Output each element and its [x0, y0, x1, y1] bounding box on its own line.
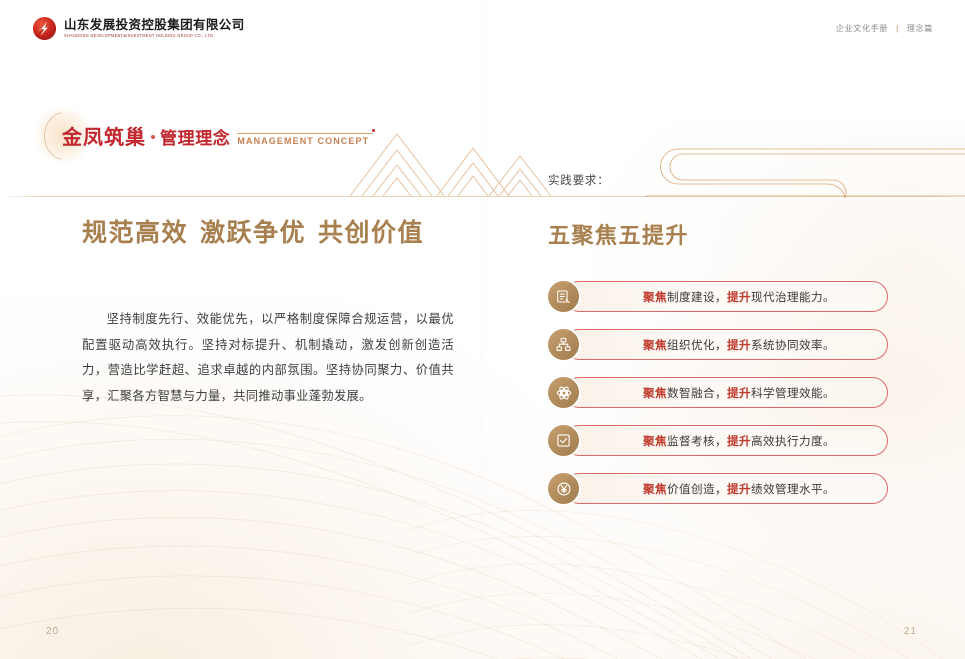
- concept-body-text: 坚持制度先行、效能优先，以严格制度保障合规运营，以最优配置驱动高效执行。坚持对标…: [82, 307, 454, 409]
- breadcrumb-manual: 企业文化手册: [836, 23, 888, 34]
- list-item-text: 聚焦价值创造，提升绩效管理水平。: [643, 481, 835, 497]
- list-item-text-2: 高效执行力度。: [751, 435, 835, 448]
- right-column: 实践要求： 五聚焦五提升 聚焦制度建设，提升现代治理能力。: [548, 172, 888, 504]
- list-item-text: 聚焦监督考核，提升高效执行力度。: [643, 433, 835, 449]
- list-item-highlight-2: 提升: [727, 387, 751, 400]
- list-item-highlight-1: 聚焦: [643, 339, 667, 352]
- list-item-text: 聚焦数智融合，提升科学管理效能。: [643, 385, 835, 401]
- five-focus-headline: 五聚焦五提升: [548, 218, 888, 250]
- headline-part-3: 共创价值: [318, 219, 424, 247]
- list-item-text-1: 监督考核，: [667, 435, 727, 448]
- badge-title-sub: 管理理念: [160, 124, 230, 149]
- list-item-bar: 聚焦价值创造，提升绩效管理水平。: [564, 473, 888, 504]
- list-item-highlight-2: 提升: [727, 339, 751, 352]
- list-item[interactable]: 聚焦组织优化，提升系统协同效率。: [548, 329, 888, 360]
- badge-text-group: 金凤筑巢 管理理念 MANAGEMENT CONCEPT: [40, 121, 373, 150]
- document-policy-icon: [548, 281, 579, 312]
- brand-name-en: SHANDONG DEVELOPMENT&INVESTMENT HOLDING …: [64, 34, 245, 39]
- breadcrumb-chapter: 理念篇: [907, 23, 933, 34]
- list-item-text-1: 价值创造，: [667, 483, 727, 496]
- org-structure-icon: [548, 329, 579, 360]
- headline-part-2: 激跃争优: [200, 219, 306, 247]
- header-breadcrumb: 企业文化手册 | 理念篇: [836, 23, 933, 34]
- list-item-highlight-1: 聚焦: [643, 387, 667, 400]
- list-item-bar: 聚焦监督考核，提升高效执行力度。: [564, 425, 888, 456]
- list-item-highlight-2: 提升: [727, 291, 751, 304]
- atom-data-icon: [548, 377, 579, 408]
- mountain-line-decoration: [345, 130, 560, 197]
- five-focus-list: 聚焦制度建设，提升现代治理能力。 聚焦组织优化，提升系统协同效率。: [548, 281, 888, 504]
- list-item-highlight-2: 提升: [727, 483, 751, 496]
- list-item-text-2: 科学管理效能。: [751, 387, 835, 400]
- list-item-text-1: 制度建设，: [667, 291, 727, 304]
- list-item-text-1: 组织优化，: [667, 339, 727, 352]
- list-item-text: 聚焦制度建设，提升现代治理能力。: [643, 289, 835, 305]
- list-item[interactable]: 聚焦制度建设，提升现代治理能力。: [548, 281, 888, 312]
- list-item-highlight-1: 聚焦: [643, 291, 667, 304]
- company-logo-icon: [32, 16, 57, 41]
- list-item[interactable]: 聚焦监督考核，提升高效执行力度。: [548, 425, 888, 456]
- badge-separator-dot: [151, 135, 155, 139]
- brand-lockup: 山东发展投资控股集团有限公司 SHANDONG DEVELOPMENT&INVE…: [32, 16, 245, 41]
- list-item-highlight-1: 聚焦: [643, 435, 667, 448]
- list-item-highlight-2: 提升: [727, 435, 751, 448]
- badge-title-main: 金凤筑巢: [62, 121, 146, 150]
- list-item-bar: 聚焦组织优化，提升系统协同效率。: [564, 329, 888, 360]
- page-number-left: 20: [46, 626, 59, 637]
- checklist-audit-icon: [548, 425, 579, 456]
- list-item-text-2: 绩效管理水平。: [751, 483, 835, 496]
- concept-headline: 规范高效激跃争优共创价值: [82, 218, 454, 249]
- list-item[interactable]: 聚焦价值创造，提升绩效管理水平。: [548, 473, 888, 504]
- brand-text: 山东发展投资控股集团有限公司 SHANDONG DEVELOPMENT&INVE…: [64, 19, 245, 38]
- page-number-right: 21: [904, 626, 917, 637]
- list-item-text-2: 系统协同效率。: [751, 339, 835, 352]
- list-item-text: 聚焦组织优化，提升系统协同效率。: [643, 337, 835, 353]
- book-gutter-shadow: [481, 0, 484, 659]
- section-title-badge: 金凤筑巢 管理理念 MANAGEMENT CONCEPT: [40, 108, 373, 162]
- headline-part-1: 规范高效: [82, 219, 188, 247]
- manual-page: 山东发展投资控股集团有限公司 SHANDONG DEVELOPMENT&INVE…: [0, 0, 965, 659]
- breadcrumb-separator: |: [896, 24, 899, 33]
- left-column: 规范高效激跃争优共创价值 坚持制度先行、效能优先，以严格制度保障合规运营，以最优…: [82, 218, 454, 422]
- practice-requirement-label: 实践要求：: [548, 172, 888, 188]
- list-item[interactable]: 聚焦数智融合，提升科学管理效能。: [548, 377, 888, 408]
- list-item-text-2: 现代治理能力。: [751, 291, 835, 304]
- list-item-text-1: 数智融合，: [667, 387, 727, 400]
- brand-name-cn: 山东发展投资控股集团有限公司: [64, 19, 245, 33]
- list-item-bar: 聚焦制度建设，提升现代治理能力。: [564, 281, 888, 312]
- yuan-value-icon: [548, 473, 579, 504]
- list-item-bar: 聚焦数智融合，提升科学管理效能。: [564, 377, 888, 408]
- list-item-highlight-1: 聚焦: [643, 483, 667, 496]
